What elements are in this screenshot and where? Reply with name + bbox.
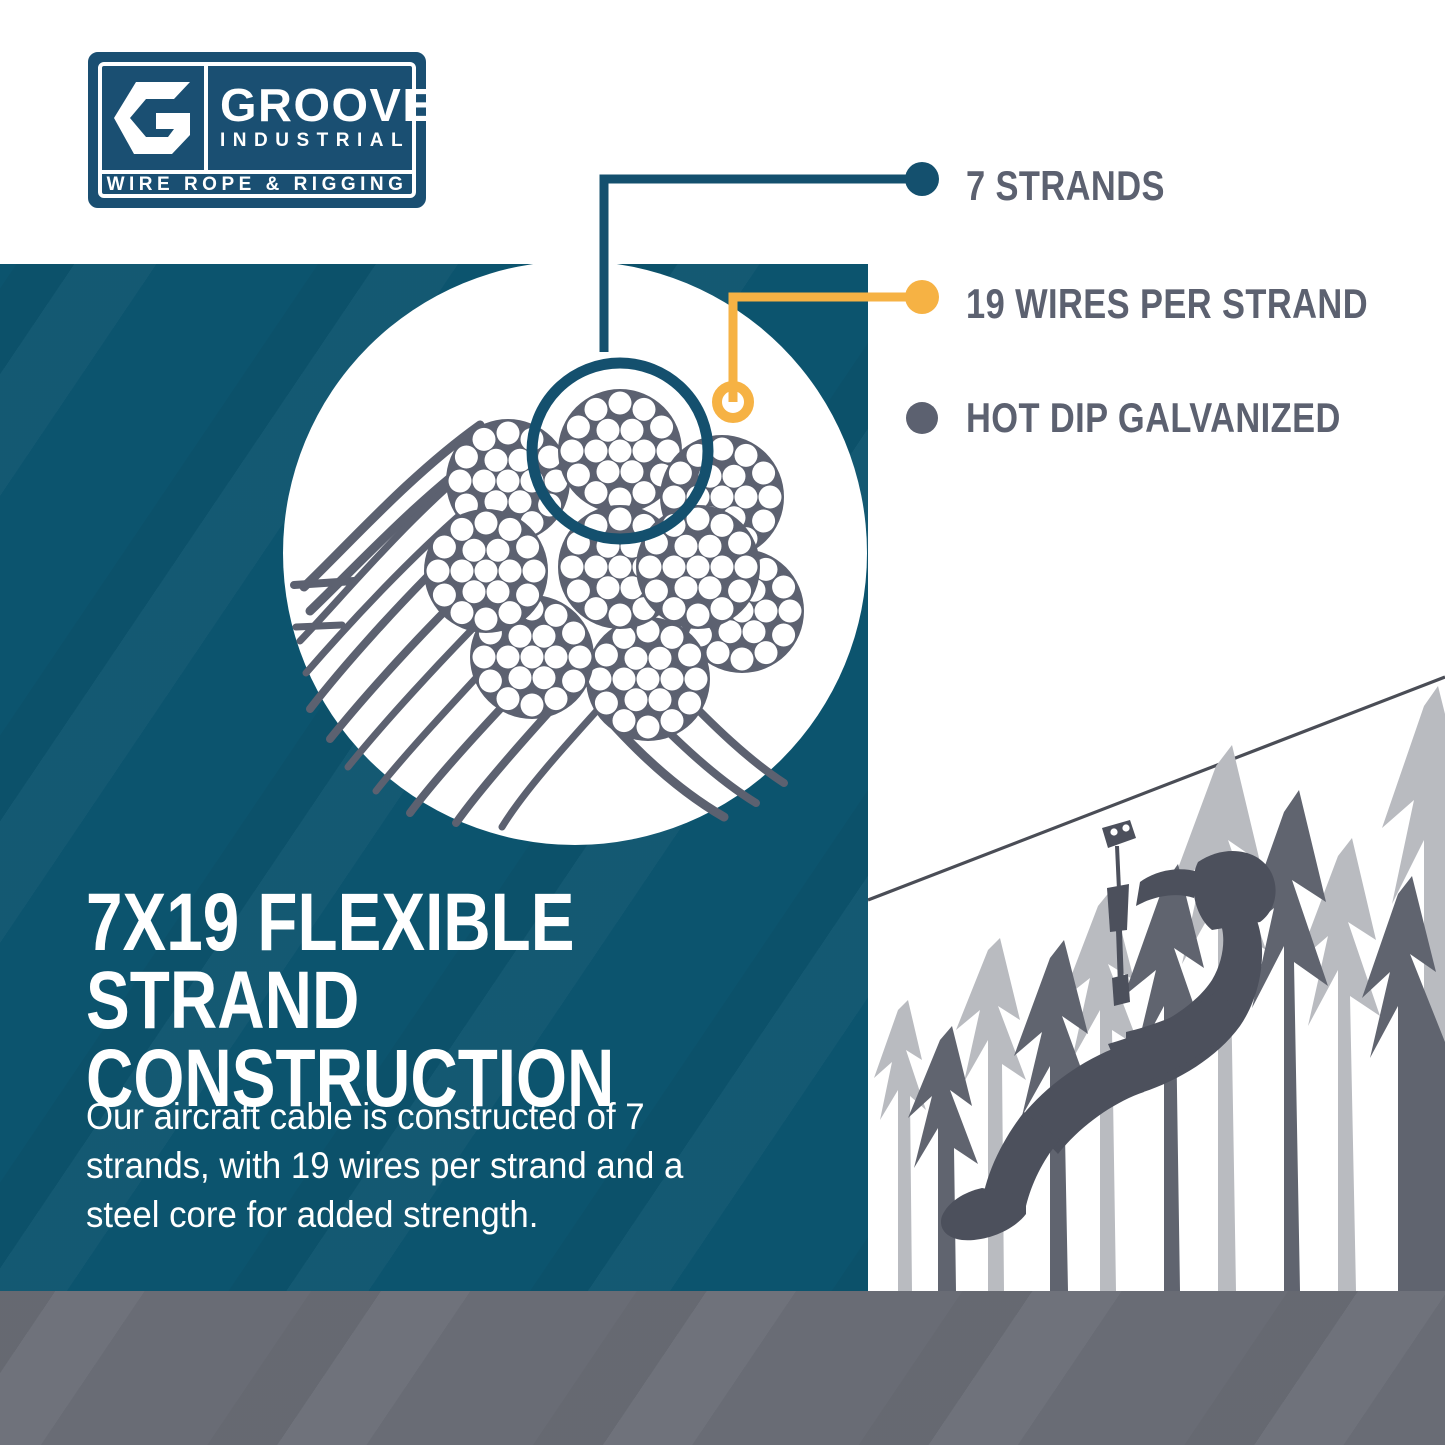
body-copy: Our aircraft cable is constructed of 7 s…: [86, 1093, 763, 1239]
callout-label: HOT DIP GALVANIZED: [966, 394, 1341, 442]
strand-bundles: [424, 389, 804, 741]
callout-item-galvanized[interactable]: HOT DIP GALVANIZED: [906, 394, 1423, 442]
logo-brand-text: GROOVE: [220, 84, 435, 126]
logo-subbrand-text: INDUSTRIAL: [220, 130, 431, 152]
logo-inner-border: GROOVE INDUSTRIAL WIRE ROPE & RIGGING: [98, 62, 416, 198]
bottom-bar: [0, 1291, 1445, 1445]
logo-wordmark: GROOVE INDUSTRIAL: [208, 84, 439, 152]
logo-bottom-row: WIRE ROPE & RIGGING: [102, 174, 412, 196]
callout-item-strands[interactable]: 7 STRANDS: [906, 162, 1209, 210]
callout-dot-icon: [906, 402, 938, 434]
groove-g-monogram-icon: [102, 66, 208, 170]
logo-tagline-text: WIRE ROPE & RIGGING: [107, 174, 408, 196]
callout-label: 7 STRANDS: [966, 162, 1165, 210]
infographic-canvas: GROOVE INDUSTRIAL WIRE ROPE & RIGGING: [0, 0, 1445, 1445]
page-title: 7X19 FLEXIBLE STRAND CONSTRUCTION: [86, 884, 846, 1118]
logo-top-row: GROOVE INDUSTRIAL: [102, 66, 412, 174]
callout-label: 19 WIRES PER STRAND: [966, 280, 1368, 328]
logo-frame: GROOVE INDUSTRIAL WIRE ROPE & RIGGING: [88, 52, 426, 208]
wire-rope-art: [290, 275, 860, 835]
brand-logo: GROOVE INDUSTRIAL WIRE ROPE & RIGGING: [88, 52, 426, 208]
callout-item-wires[interactable]: 19 WIRES PER STRAND: [906, 280, 1445, 328]
wire-rope-cross-section: [290, 275, 860, 835]
bottom-bar-texture: [0, 1291, 1445, 1445]
